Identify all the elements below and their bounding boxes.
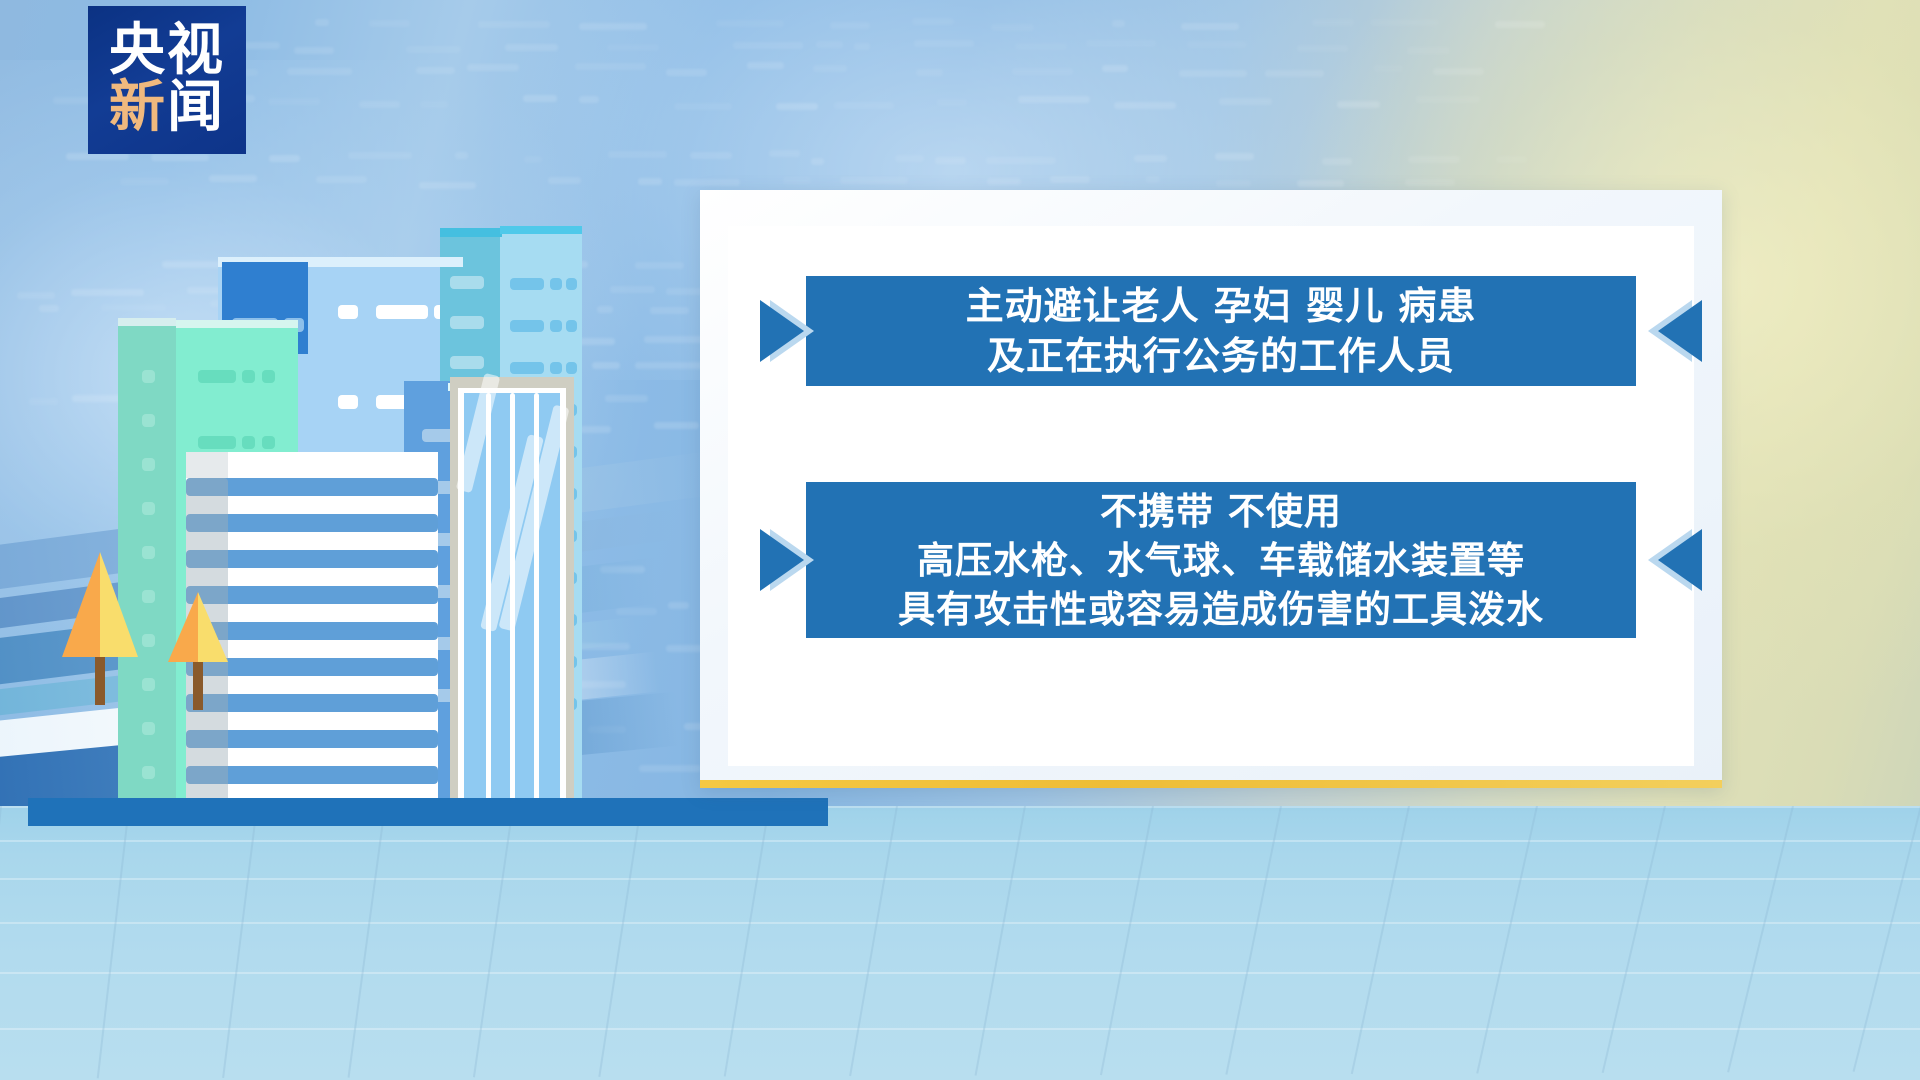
tree-left-icon xyxy=(62,552,138,705)
building-window xyxy=(510,320,544,332)
building-window xyxy=(338,395,358,409)
building-window xyxy=(198,370,236,383)
tree-fan-left xyxy=(62,552,100,657)
floor-line-vertical xyxy=(0,806,2,1079)
triangle-right-icon xyxy=(760,300,812,362)
floor-line-horizontal xyxy=(0,972,1920,974)
building-window xyxy=(142,678,155,691)
logo-line-2: 新 闻 xyxy=(109,81,225,136)
building-window xyxy=(338,305,358,319)
floor-line-vertical xyxy=(849,806,898,1076)
building-sky-cap xyxy=(500,226,582,234)
triangle-left-main-2 xyxy=(1658,529,1702,591)
building-window xyxy=(142,634,155,647)
building-window xyxy=(142,590,155,603)
building-window xyxy=(142,766,155,779)
building-podium-top xyxy=(228,452,438,478)
building-window xyxy=(450,356,484,369)
floor-line-vertical xyxy=(97,806,130,1078)
floor-line-vertical xyxy=(1100,806,1154,1075)
tree-fan-right xyxy=(198,592,228,662)
building-window xyxy=(510,362,544,374)
rule-banner-1: 主动避让老人 孕妇 婴儿 病患 及正在执行公务的工作人员 xyxy=(806,276,1636,386)
scene-floor xyxy=(0,806,1920,1080)
floor-line-vertical xyxy=(1476,806,1538,1074)
building-window xyxy=(142,370,155,383)
building-window xyxy=(242,436,255,449)
building-window xyxy=(262,370,275,383)
building-mint-cap xyxy=(176,320,298,328)
building-glass-panes xyxy=(464,393,560,803)
floor-line-vertical xyxy=(1602,806,1666,1073)
building-window xyxy=(142,458,155,471)
logo-char-yang: 央视 xyxy=(109,24,225,79)
rule-banner-2-line-2: 高压水枪、水气球、车载储水装置等 xyxy=(917,536,1525,585)
triangle-left-icon xyxy=(1650,300,1702,362)
floor-line-vertical xyxy=(724,806,770,1077)
building-window xyxy=(550,362,562,374)
floor-line-vertical xyxy=(222,806,258,1078)
triangle-right-icon-2 xyxy=(760,529,812,591)
floor-line-vertical xyxy=(348,806,386,1078)
building-window xyxy=(142,722,155,735)
tree-fan-left xyxy=(168,592,198,662)
rule-banner-2: 不携带 不使用 高压水枪、水气球、车载储水装置等 具有攻击性或容易造成伤害的工具… xyxy=(806,482,1636,638)
building-window xyxy=(566,362,577,374)
tree-trunk xyxy=(95,657,105,705)
triangle-right-main xyxy=(760,300,804,362)
scene-stage: 央视 新 闻 主动避让老人 孕妇 婴儿 病患 及正在执行公务的工作人员 不携带 … xyxy=(0,0,1920,1080)
floor-line-vertical xyxy=(1351,806,1410,1074)
building-window xyxy=(142,414,155,427)
floor-line-vertical xyxy=(1727,806,1794,1072)
building-window xyxy=(262,436,275,449)
building-window xyxy=(198,436,236,449)
tree-right-icon xyxy=(168,592,228,710)
rule-banner-2-line-3: 具有攻击性或容易造成伤害的工具泼水 xyxy=(898,585,1544,634)
building-window xyxy=(242,370,255,383)
content-panel-accent-bar xyxy=(700,780,1722,788)
rule-banner-1-line-1: 主动避让老人 孕妇 婴儿 病患 xyxy=(966,281,1477,331)
building-window xyxy=(450,316,484,329)
building-window xyxy=(510,278,544,290)
building-window xyxy=(566,320,577,332)
building-window xyxy=(566,278,577,290)
triangle-left-main xyxy=(1658,300,1702,362)
floor-line-horizontal xyxy=(0,922,1920,924)
triangle-right-main-2 xyxy=(760,529,804,591)
logo-line-1: 央视 xyxy=(109,24,225,79)
building-window xyxy=(450,276,484,289)
floor-line-vertical xyxy=(473,806,514,1077)
floor-line-horizontal xyxy=(0,1028,1920,1030)
building-window xyxy=(376,305,428,319)
floor-line-vertical xyxy=(598,806,642,1077)
building-teal-cap xyxy=(118,318,176,326)
tree-trunk xyxy=(193,662,203,710)
logo-char-xin: 新 xyxy=(109,81,167,136)
building-window xyxy=(142,546,155,559)
rule-banner-1-line-2: 及正在执行公务的工作人员 xyxy=(987,331,1455,381)
building-window xyxy=(550,320,562,332)
floor-line-vertical xyxy=(1225,806,1282,1075)
cctv-news-logo: 央视 新 闻 xyxy=(88,6,246,154)
building-window xyxy=(550,278,562,290)
floor-line-vertical xyxy=(975,806,1026,1076)
floor-line-horizontal xyxy=(0,840,1920,842)
floor-line-vertical xyxy=(1853,806,1920,1072)
rule-banner-2-line-1: 不携带 不使用 xyxy=(1100,487,1342,536)
building-window xyxy=(142,502,155,515)
floor-line-horizontal xyxy=(0,878,1920,880)
logo-char-wen: 闻 xyxy=(167,81,225,136)
building-cyan-cap xyxy=(440,228,502,237)
triangle-left-icon-2 xyxy=(1650,529,1702,591)
ground-base-bar xyxy=(28,798,828,826)
tree-fan-right xyxy=(100,552,138,657)
